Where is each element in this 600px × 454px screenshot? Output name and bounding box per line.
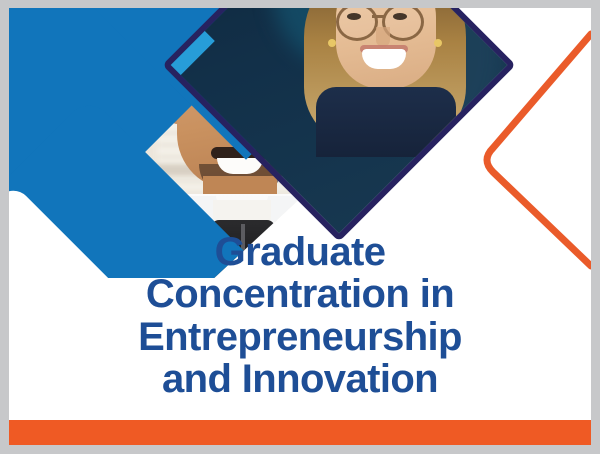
student-glasses-bridge <box>372 15 384 18</box>
student-smile <box>362 49 406 69</box>
student-nose <box>376 27 390 47</box>
orange-footer-bar <box>9 420 591 445</box>
female-student-figure <box>310 8 460 141</box>
promo-card: Graduate Concentration in Entrepreneursh… <box>9 8 591 445</box>
headline-line-1: Graduate <box>31 231 569 273</box>
headline-line-3: Entrepreneurship <box>31 316 569 358</box>
student-torso <box>316 87 456 157</box>
page-title: Graduate Concentration in Entrepreneursh… <box>9 231 591 401</box>
headline-line-2: Concentration in <box>31 273 569 315</box>
headline-line-4: and Innovation <box>31 358 569 400</box>
